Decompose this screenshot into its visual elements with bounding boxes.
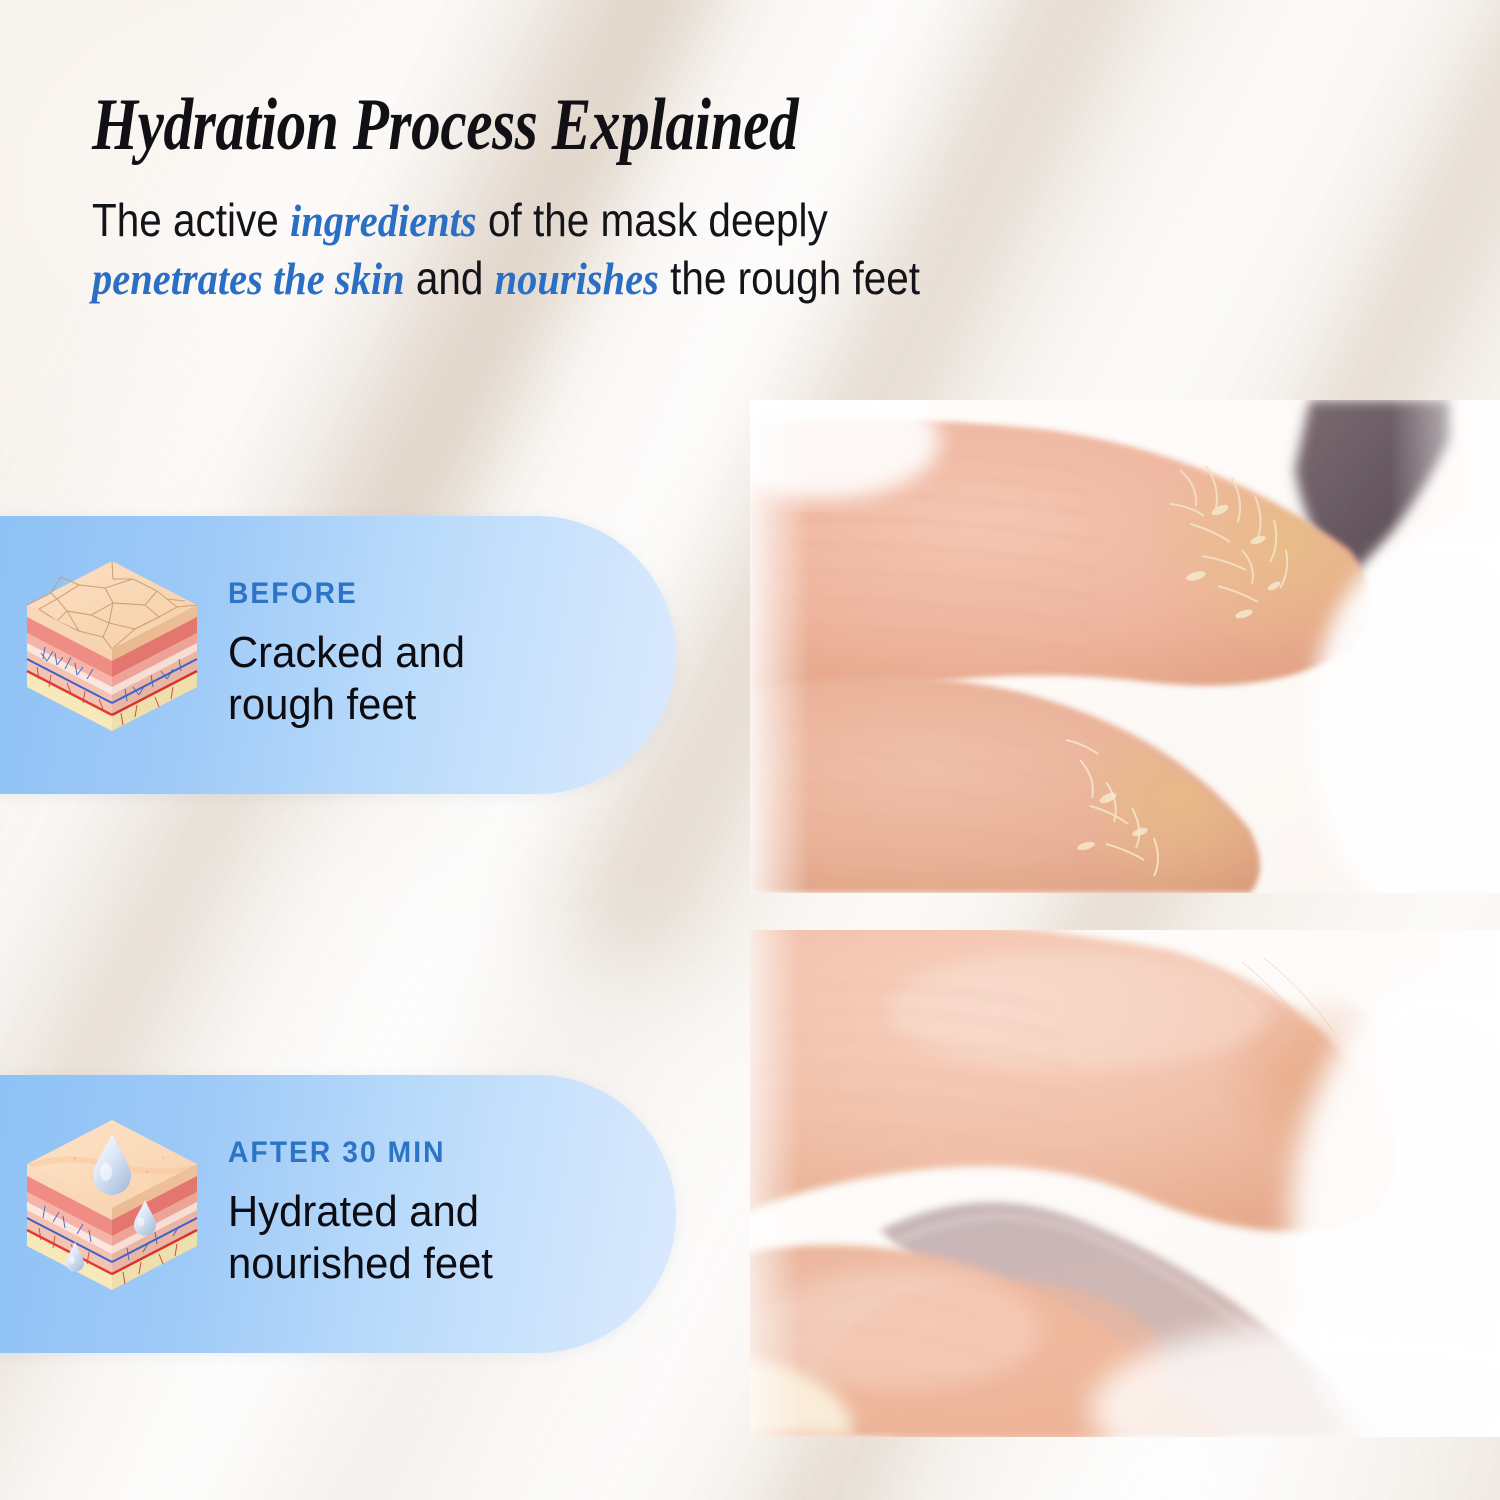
step-card-after[interactable]: AFTER 30 MIN Hydrated and nourished feet [0, 1075, 676, 1353]
step-body-line-2: nourished feet [228, 1238, 493, 1290]
subtitle-text: The active [92, 194, 290, 246]
step-card-before[interactable]: BEFORE Cracked and rough feet [0, 516, 676, 794]
subtitle-line-1: The active ingredients of the mask deepl… [92, 192, 1007, 250]
subtitle-highlight: nourishes [495, 253, 659, 304]
step-text-after: AFTER 30 MIN Hydrated and nourished feet [228, 1138, 507, 1290]
step-text-before: BEFORE Cracked and rough feet [228, 579, 477, 731]
step-body-line-1: Cracked and [228, 627, 465, 679]
subtitle-text: of the mask deeply [477, 194, 828, 246]
step-body-line-2: rough feet [228, 679, 465, 731]
page-subtitle: The active ingredients of the mask deepl… [92, 192, 1007, 307]
header-block: Hydration Process Explained The active i… [92, 88, 1132, 307]
cracked-rough-heel-photo [750, 400, 1500, 893]
step-body-after: Hydrated and nourished feet [228, 1186, 493, 1290]
subtitle-highlight: penetrates the skin [92, 253, 405, 304]
smooth-hydrated-heel-photo [750, 930, 1500, 1437]
page-title: Hydration Process Explained [92, 88, 924, 162]
skin-cross-section-cracked-icon [0, 555, 224, 755]
infographic-canvas: Hydration Process Explained The active i… [0, 0, 1500, 1500]
step-kicker-after: AFTER 30 MIN [228, 1138, 490, 1168]
step-body-before: Cracked and rough feet [228, 627, 465, 731]
subtitle-text: the rough feet [659, 252, 920, 304]
step-body-line-1: Hydrated and [228, 1186, 493, 1238]
skin-cross-section-hydrated-icon [0, 1114, 224, 1314]
step-kicker-before: BEFORE [228, 579, 463, 609]
subtitle-highlight: ingredients [290, 195, 477, 246]
subtitle-line-2: penetrates the skin and nourishes the ro… [92, 250, 1007, 308]
subtitle-text: and [405, 252, 495, 304]
